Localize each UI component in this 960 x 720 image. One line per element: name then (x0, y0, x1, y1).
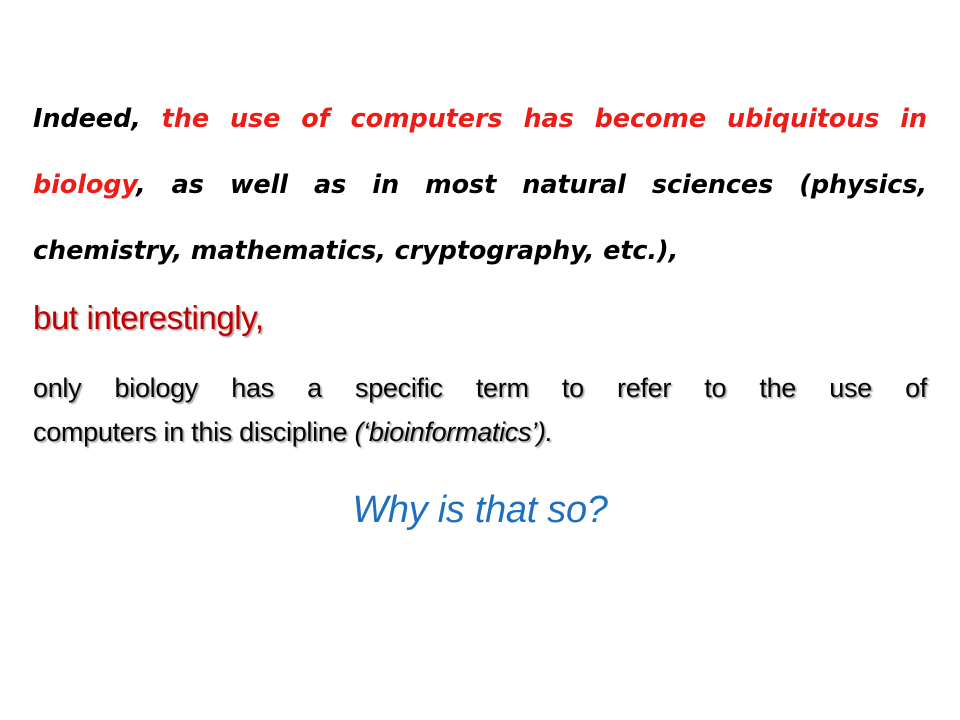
paragraph-intro-line-3: chemistry, mathematics, cryptography, et… (33, 218, 927, 284)
intro-indeed-text: Indeed, (33, 104, 162, 134)
slide-content-body: Indeed, the use of computers has become … (33, 86, 927, 533)
slide-canvas: Indeed, the use of computers has become … (0, 0, 960, 720)
only-line-2-upright-text: computers in this discipline (33, 417, 354, 447)
paragraph-intro-line-2: biology, as well as in most natural scie… (33, 152, 927, 218)
only-line-2-italic-bioinformatics: (‘bioinformatics’). (354, 417, 552, 447)
paragraph-only-line-1: only biology has a specific term to refe… (33, 366, 927, 410)
paragraph-only-biology: only biology has a specific term to refe… (33, 338, 927, 454)
question-why-is-that-so: Why is that so? (33, 454, 927, 533)
intro-black-phrase-line-2: , as well as in most natural sciences (p… (136, 170, 927, 200)
heading-but-interestingly: but interestingly, (33, 284, 927, 338)
paragraph-intro: Indeed, the use of computers has become … (33, 86, 927, 284)
intro-black-phrase-line-3: chemistry, mathematics, cryptography, et… (33, 236, 678, 266)
paragraph-intro-line-1: Indeed, the use of computers has become … (33, 86, 927, 152)
paragraph-only-line-2: computers in this discipline (‘bioinform… (33, 410, 927, 454)
intro-red-word-biology: biology (33, 170, 136, 200)
intro-red-phrase-line-1: the use of computers has become ubiquito… (162, 104, 927, 134)
